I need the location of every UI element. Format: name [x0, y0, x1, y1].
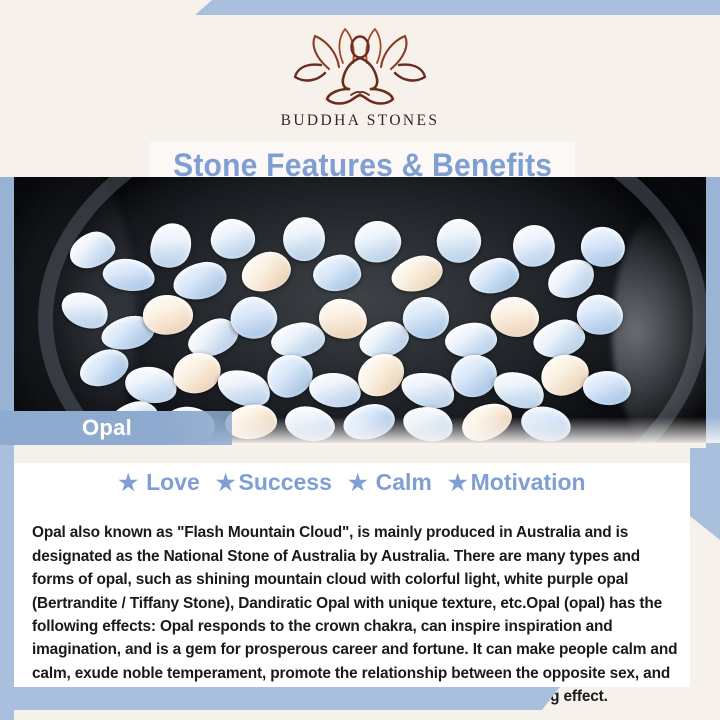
benefit-label: Motivation	[471, 469, 586, 496]
benefits-row: ★ Love ★ Success ★ Calm ★ Motivation	[14, 469, 690, 496]
stone-photo	[0, 177, 720, 443]
stone-name-label: Opal	[82, 415, 132, 441]
stone-cluster	[55, 177, 655, 443]
benefit-label: Love	[146, 469, 200, 496]
top-accent-band	[195, 0, 720, 15]
stone-caption-bar: Opal	[0, 411, 232, 445]
star-icon: ★	[448, 472, 468, 494]
card-top-band	[14, 449, 690, 463]
brand-name: BUDDHA STONES	[0, 112, 720, 130]
benefit-label: Calm	[376, 469, 432, 496]
content-card: ★ Love ★ Success ★ Calm ★ Motivation Opa…	[14, 449, 690, 687]
photo-left-accent	[0, 177, 14, 443]
infographic-page: BUDDHA STONES Stone Features & Benefits	[0, 0, 720, 720]
brand-logo: BUDDHA STONES	[0, 23, 720, 130]
star-icon: ★	[216, 472, 236, 494]
benefit-item-calm: ★ Calm	[348, 469, 432, 496]
benefit-item-love: ★ Love	[118, 469, 199, 496]
left-accent-strip	[0, 443, 14, 687]
content-section: ★ Love ★ Success ★ Calm ★ Motivation Opa…	[0, 443, 720, 720]
benefit-label: Success	[239, 469, 332, 496]
lotus-meditation-icon	[285, 23, 435, 111]
benefit-item-success: ★ Success	[216, 469, 332, 496]
bottom-accent-band	[0, 687, 560, 710]
right-accent-strip	[690, 448, 720, 540]
photo-right-accent	[706, 177, 720, 443]
header: BUDDHA STONES Stone Features & Benefits	[0, 15, 720, 177]
star-icon: ★	[348, 472, 368, 494]
benefit-item-motivation: ★ Motivation	[448, 469, 586, 496]
star-icon: ★	[118, 472, 138, 494]
stone-description: Opal also known as "Flash Mountain Cloud…	[32, 521, 680, 708]
